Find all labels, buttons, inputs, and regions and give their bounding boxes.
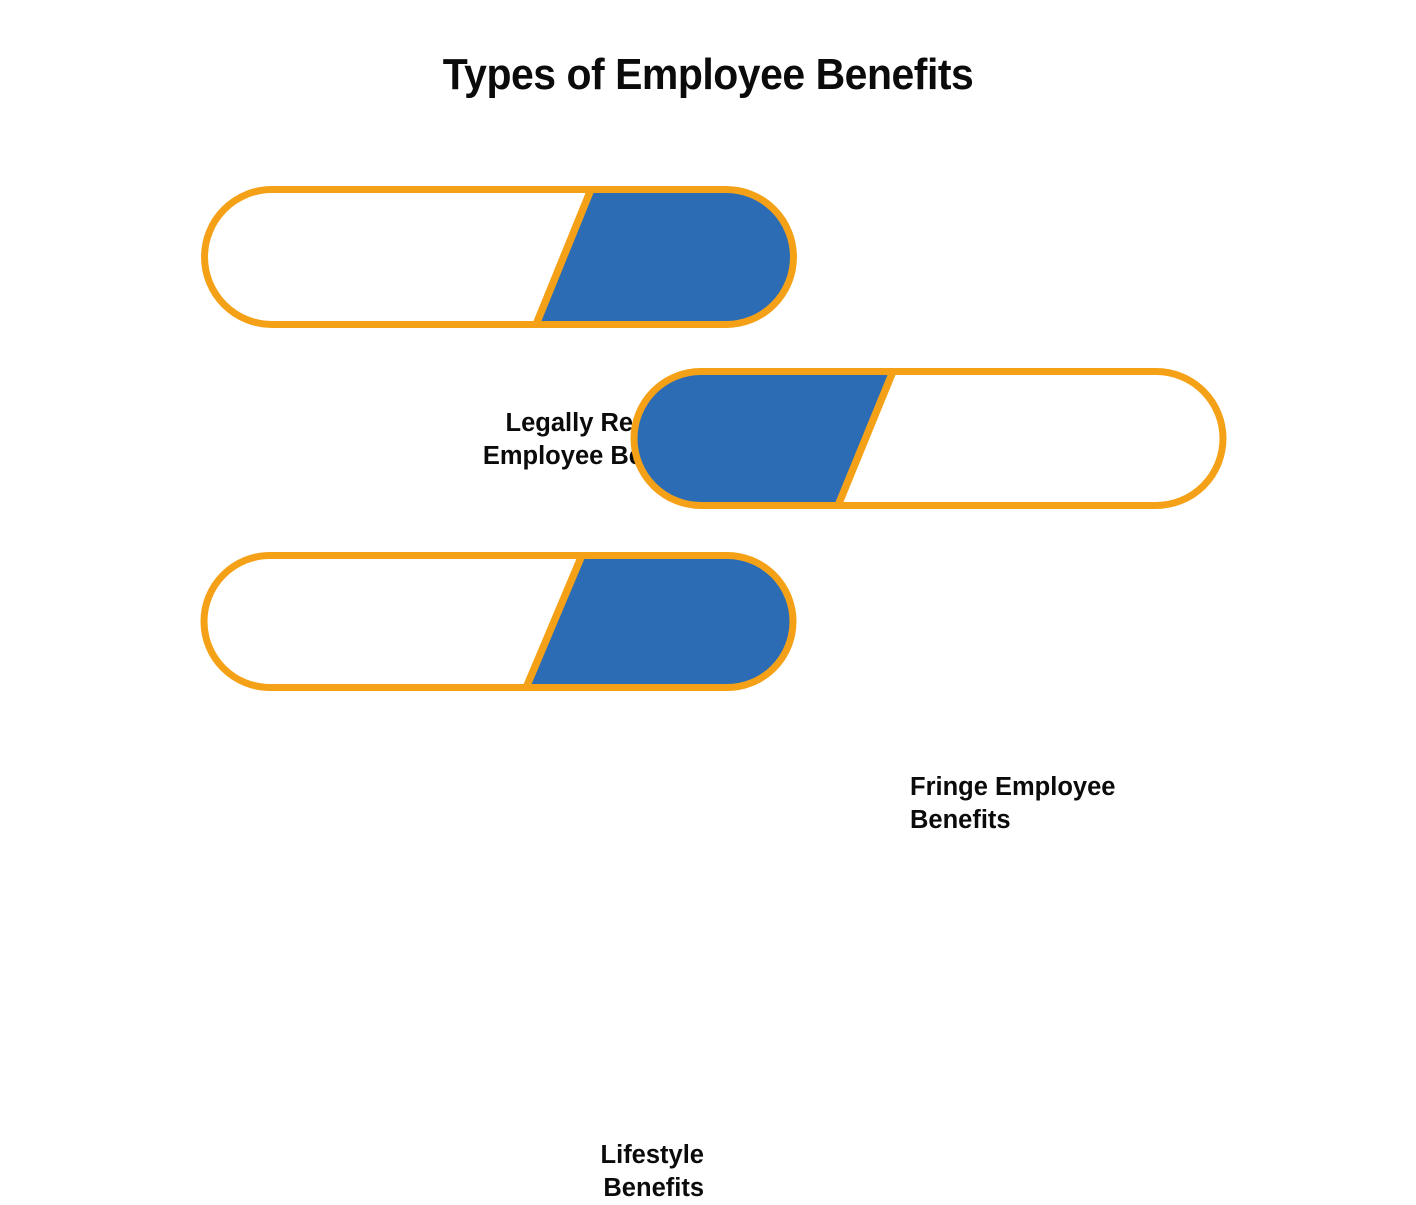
benefit-item-1[interactable]: Legally Required Employee Benefits 01 bbox=[201, 186, 797, 328]
pill-shape-3 bbox=[200, 552, 797, 691]
benefit-number-3: 03 bbox=[590, 1153, 1124, 1197]
benefit-item-3[interactable]: Lifestyle Benefits 03 bbox=[200, 552, 797, 691]
page-title: Types of Employee Benefits bbox=[50, 46, 1367, 104]
pill-shape-2 bbox=[630, 368, 1227, 509]
benefit-number-2: 02 bbox=[600, 785, 850, 829]
benefit-label-2: Fringe Employee Benefits bbox=[910, 771, 1250, 837]
pill-shape-1 bbox=[201, 186, 797, 328]
benefit-item-2[interactable]: Fringe Employee Benefits 02 bbox=[630, 368, 1227, 509]
infographic-canvas: Types of Employee Benefits Legally Requi… bbox=[0, 0, 1416, 743]
